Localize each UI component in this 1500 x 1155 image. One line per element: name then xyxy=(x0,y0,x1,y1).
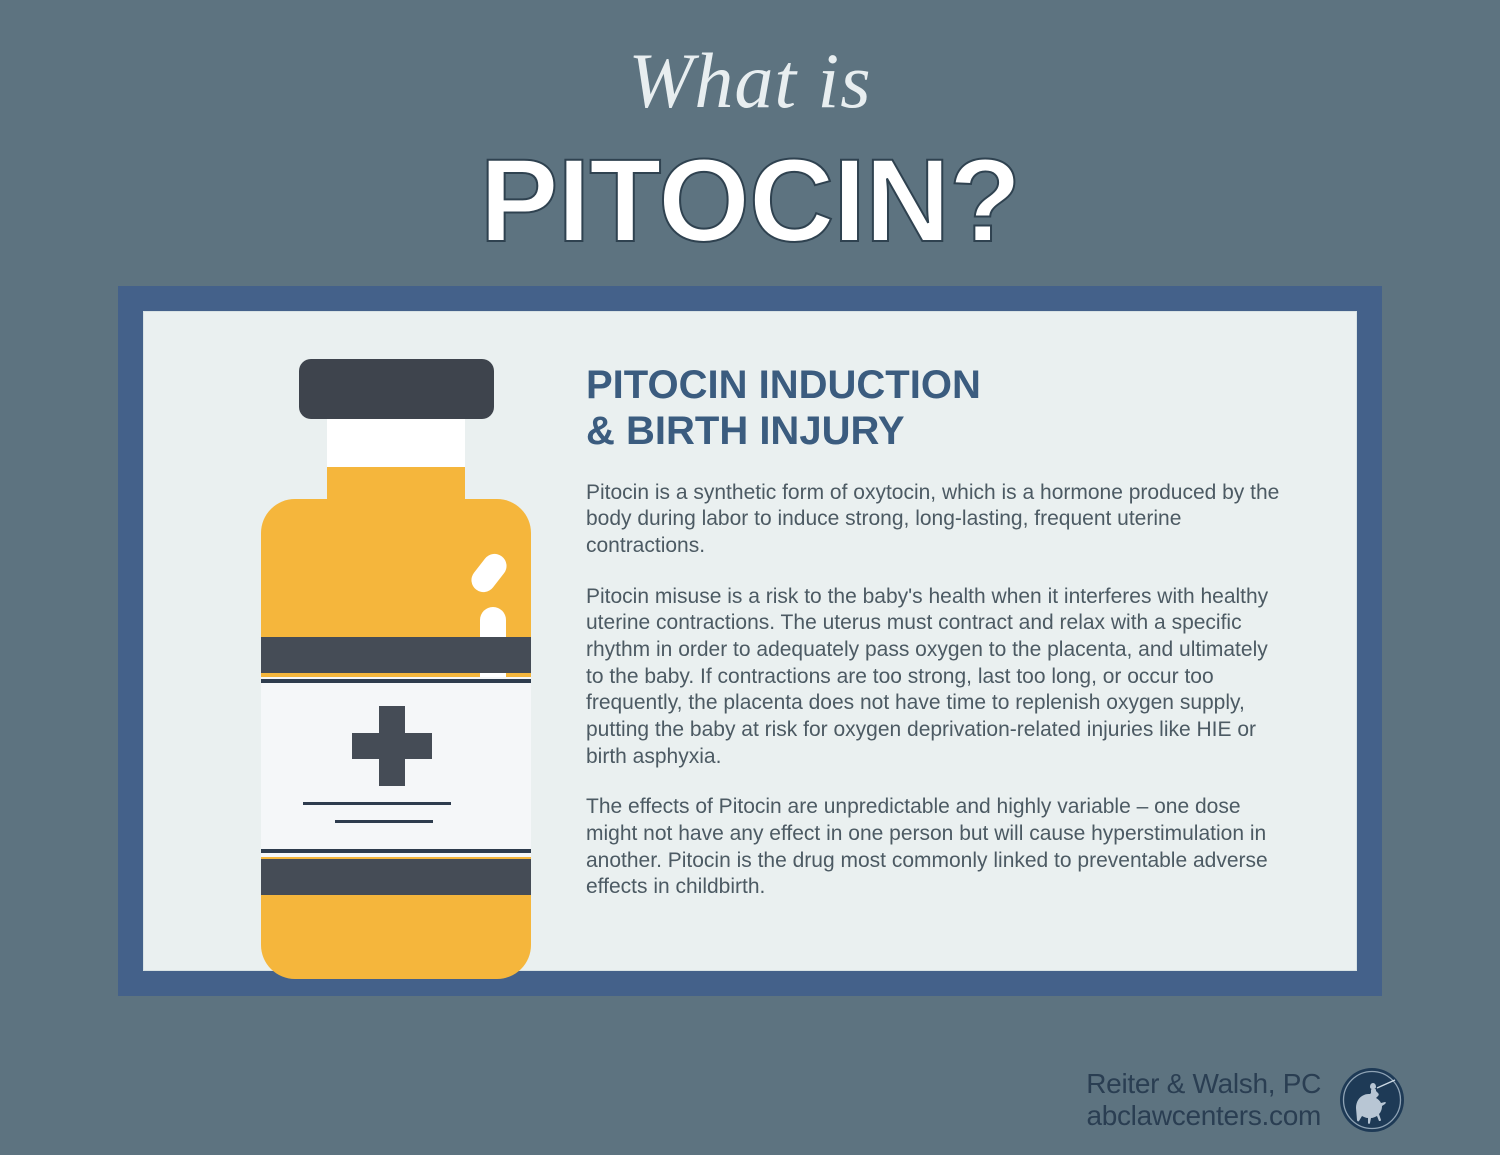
bottle-label-text-line-2 xyxy=(335,820,433,823)
section-heading: PITOCIN INDUCTION & BIRTH INJURY xyxy=(586,362,1290,455)
website-url[interactable]: abclawcenters.com xyxy=(1086,1100,1321,1132)
paragraph-2: Pitocin misuse is a risk to the baby's h… xyxy=(586,584,1290,771)
paragraph-1: Pitocin is a synthetic form of oxytocin,… xyxy=(586,480,1290,560)
bottle-label-band-top xyxy=(261,637,531,673)
bottle-label-text-line-1 xyxy=(303,802,451,805)
paragraph-3: The effects of Pitocin are unpredictable… xyxy=(586,794,1290,901)
knight-on-horseback-logo-icon xyxy=(1339,1067,1405,1133)
illustration-column xyxy=(144,312,564,970)
page-title-block: What is PITOCIN? xyxy=(0,0,1500,285)
content-frame: PITOCIN INDUCTION & BIRTH INJURY Pitocin… xyxy=(118,286,1382,996)
content-panel: PITOCIN INDUCTION & BIRTH INJURY Pitocin… xyxy=(143,311,1357,971)
bottle-cap xyxy=(299,359,494,419)
bottle-label-band-bottom xyxy=(261,859,531,895)
firm-name: Reiter & Walsh, PC xyxy=(1086,1068,1321,1100)
page-title-main: PITOCIN? xyxy=(0,120,1500,260)
footer-branding: Reiter & Walsh, PC abclawcenters.com xyxy=(1086,1068,1321,1132)
bottle-label-rule-top xyxy=(261,679,531,683)
bottle-label-rule-bottom xyxy=(261,849,531,853)
medical-cross-icon-bar xyxy=(352,733,432,759)
bottle-neck xyxy=(327,417,465,467)
medicine-bottle-icon xyxy=(261,359,531,979)
footer: Reiter & Walsh, PC abclawcenters.com xyxy=(1086,1067,1405,1133)
text-column: PITOCIN INDUCTION & BIRTH INJURY Pitocin… xyxy=(564,312,1356,970)
page-title-script: What is xyxy=(0,0,1500,120)
